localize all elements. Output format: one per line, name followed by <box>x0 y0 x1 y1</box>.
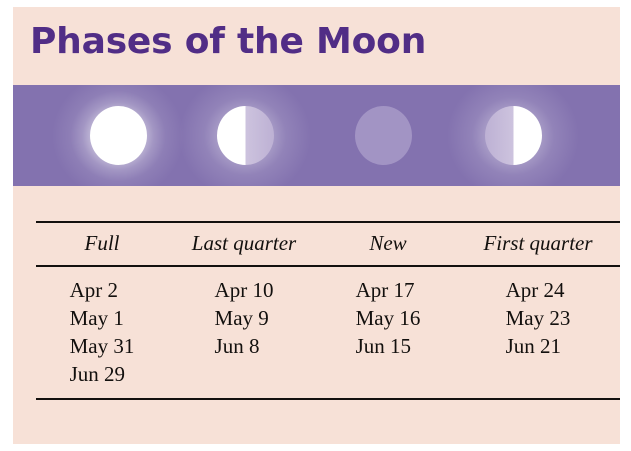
moon-slot-first-quarter <box>437 85 589 186</box>
date-item: May 9 <box>215 304 274 332</box>
date-list-new: Apr 17 May 16 Jun 15 <box>320 267 456 370</box>
table-cell-last-quarter-dates: Apr 10 May 9 Jun 8 <box>168 266 320 399</box>
phase-dates-table: Full Last quarter New First quarter Apr … <box>36 221 620 400</box>
page-title: Phases of the Moon <box>30 21 426 62</box>
date-item: Jun 29 <box>70 360 135 388</box>
table-header-row: Full Last quarter New First quarter <box>36 222 620 266</box>
date-item: Apr 17 <box>356 276 421 304</box>
table-cell-full-dates: Apr 2 May 1 May 31 Jun 29 <box>36 266 168 399</box>
date-item: Jun 8 <box>215 332 274 360</box>
date-list-inner: Apr 24 May 23 Jun 21 <box>506 276 571 360</box>
date-item: May 31 <box>70 332 135 360</box>
column-header-last-quarter: Last quarter <box>168 222 320 266</box>
first-quarter-moon-icon <box>485 106 542 165</box>
table-cell-first-quarter-dates: Apr 24 May 23 Jun 21 <box>456 266 620 399</box>
date-item: Apr 10 <box>215 276 274 304</box>
date-list-last-quarter: Apr 10 May 9 Jun 8 <box>168 267 320 370</box>
table-body: Apr 2 May 1 May 31 Jun 29 Apr 10 May 9 <box>36 266 620 399</box>
date-item: May 1 <box>70 304 135 332</box>
date-item: May 16 <box>356 304 421 332</box>
full-moon-icon <box>90 106 147 165</box>
date-item: Apr 2 <box>70 276 135 304</box>
moon-phase-illustration-band <box>13 85 620 186</box>
date-list-inner: Apr 10 May 9 Jun 8 <box>215 276 274 360</box>
new-moon-icon <box>355 106 412 165</box>
table-row: Apr 2 May 1 May 31 Jun 29 Apr 10 May 9 <box>36 266 620 399</box>
date-item: Apr 24 <box>506 276 571 304</box>
last-quarter-moon-icon <box>217 106 274 165</box>
date-list-first-quarter: Apr 24 May 23 Jun 21 <box>456 267 620 370</box>
column-header-first-quarter: First quarter <box>456 222 620 266</box>
date-item: May 23 <box>506 304 571 332</box>
moon-phases-card: Phases of the Moon Full Last quarter <box>13 7 620 444</box>
table-header: Full Last quarter New First quarter <box>36 222 620 266</box>
date-item: Jun 15 <box>356 332 421 360</box>
title-area: Phases of the Moon <box>13 7 620 85</box>
moon-slot-last-quarter <box>169 85 321 186</box>
date-list-inner: Apr 2 May 1 May 31 Jun 29 <box>70 276 135 388</box>
table-cell-new-dates: Apr 17 May 16 Jun 15 <box>320 266 456 399</box>
date-item: Jun 21 <box>506 332 571 360</box>
column-header-new: New <box>320 222 456 266</box>
date-list-full: Apr 2 May 1 May 31 Jun 29 <box>36 267 168 398</box>
date-list-inner: Apr 17 May 16 Jun 15 <box>356 276 421 360</box>
column-header-full: Full <box>36 222 168 266</box>
